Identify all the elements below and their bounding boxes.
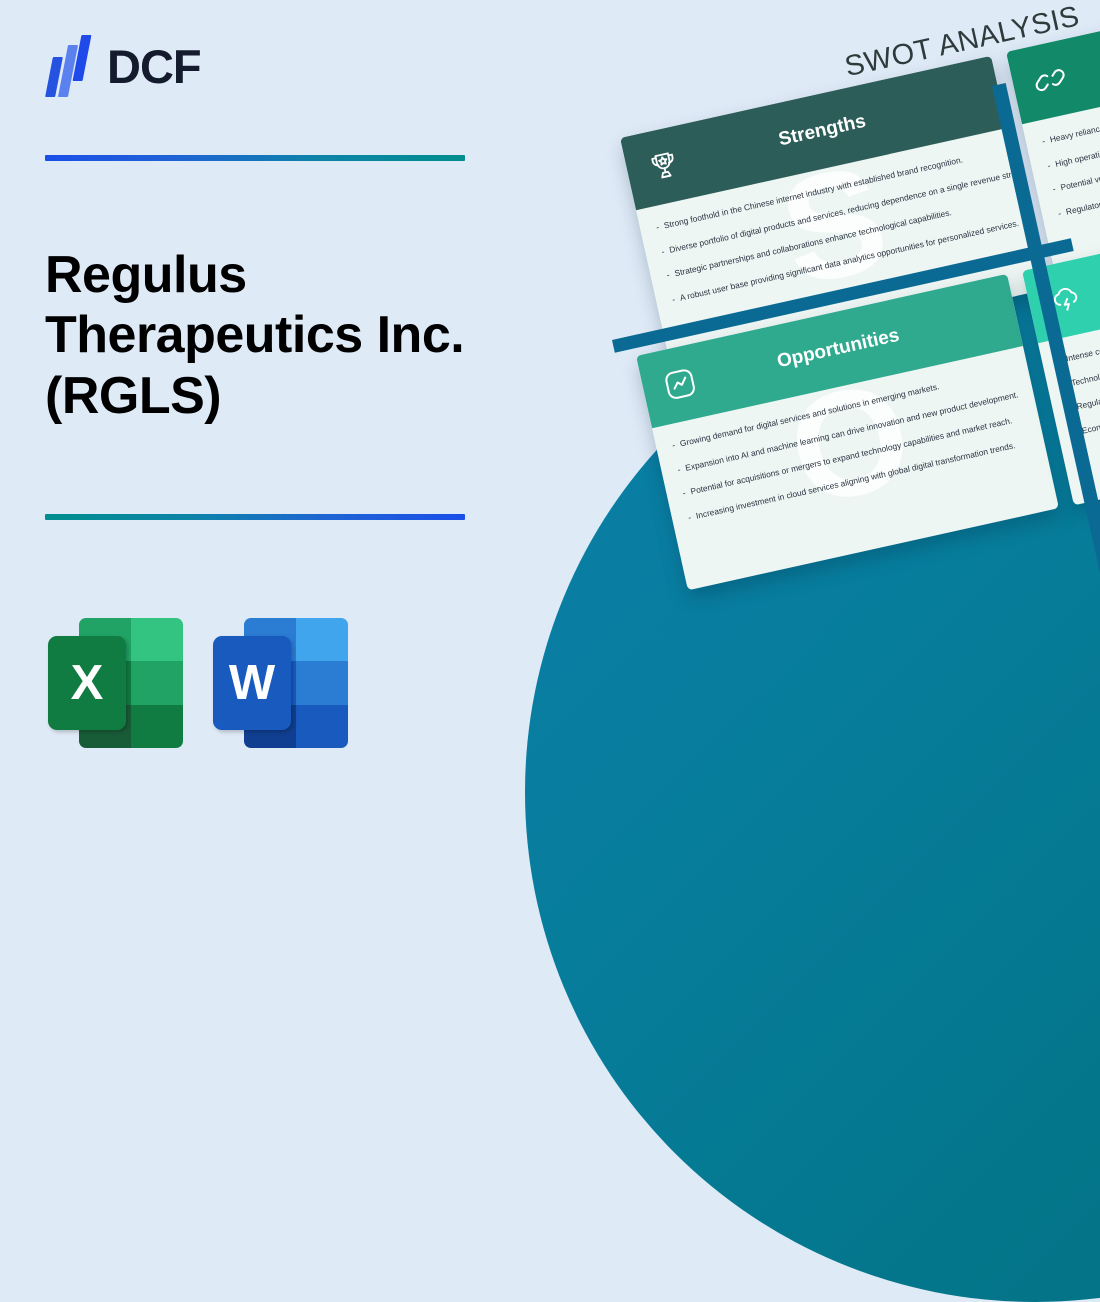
- trend-line-icon: [660, 364, 701, 405]
- swot-graphic: SWOT ANALYSIS Strengths S Strong foothol…: [0, 0, 1100, 805]
- trophy-icon: [644, 146, 685, 187]
- broken-link-icon: [1030, 60, 1071, 101]
